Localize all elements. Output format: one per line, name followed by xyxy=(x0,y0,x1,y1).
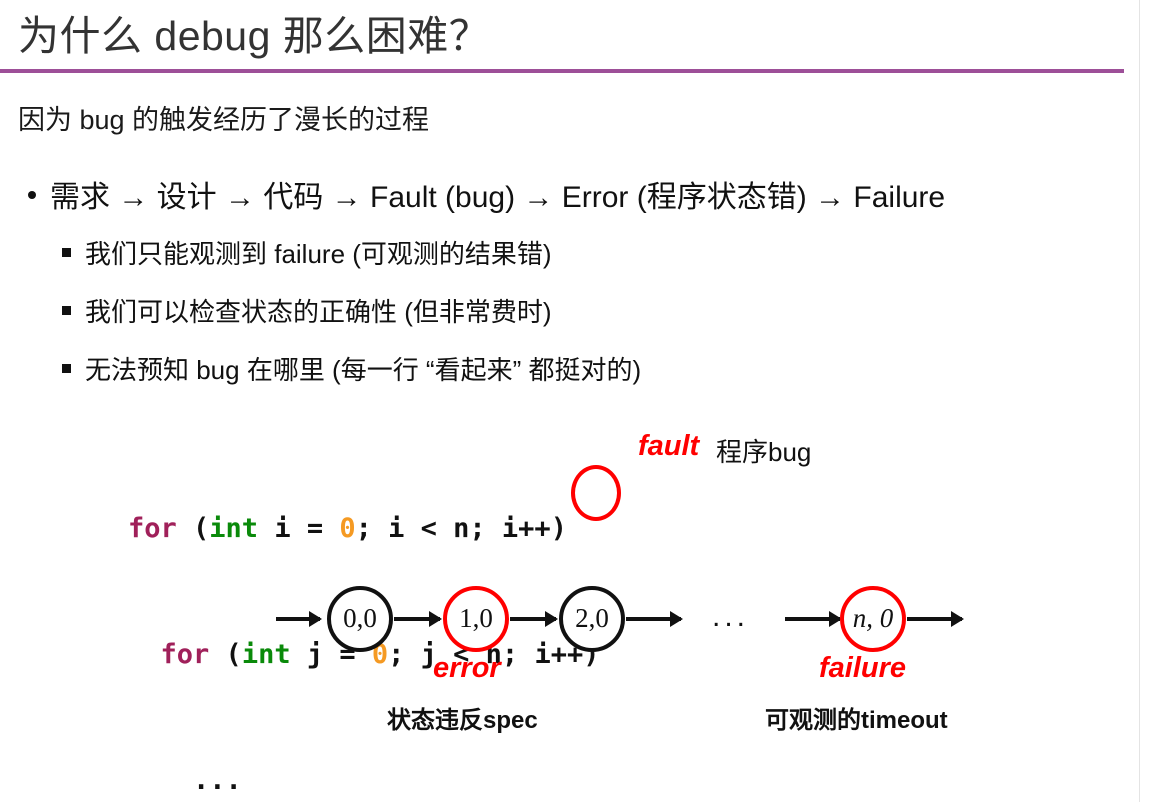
bullet-dot-icon xyxy=(28,191,36,199)
state-node-2: 2,0 xyxy=(559,586,625,652)
arrow-out-of-node-n xyxy=(907,617,962,621)
state-node-0-label: 0,0 xyxy=(343,605,377,632)
title-divider xyxy=(0,69,1124,73)
code-keyword-for: for xyxy=(128,513,177,544)
code-type-int: int xyxy=(209,513,258,544)
failure-label: failure xyxy=(819,652,906,685)
bullet-level2-3-label: 无法预知 bug 在哪里 (每一行 “看起来” 都挺对的) xyxy=(85,350,641,387)
page-title: 为什么 debug 那么困难？ xyxy=(18,2,490,62)
code-line-3: ... xyxy=(128,760,599,802)
bullet-level2-3: 无法预知 bug 在哪里 (每一行 “看起来” 都挺对的) xyxy=(62,350,641,387)
square-bullet-icon xyxy=(62,306,71,315)
fault-annotation-label: fault xyxy=(638,430,699,463)
code-line-1: for (int i = 0; i < n; i++) xyxy=(128,508,599,550)
state-diagram: 0,0 1,0 2,0 ... n, 0 error 状态违反spec fail… xyxy=(0,560,1139,760)
diagram-ellipsis: ... xyxy=(712,600,749,634)
error-label: error xyxy=(433,652,501,685)
state-node-0: 0,0 xyxy=(327,586,393,652)
bullet-level2-1-label: 我们只能观测到 failure (可观测的结果错) xyxy=(85,234,552,271)
bullet-level2-1: 我们只能观测到 failure (可观测的结果错) xyxy=(62,234,552,271)
square-bullet-icon xyxy=(62,248,71,257)
state-node-n-label: n, 0 xyxy=(853,605,894,632)
arrow-out-of-node-2 xyxy=(626,617,681,621)
code-number-zero: 0 xyxy=(339,513,355,544)
arrow-1-to-2 xyxy=(510,617,556,621)
fault-annotation-note: 程序bug xyxy=(716,432,811,469)
slide-canvas: 为什么 debug 那么困难？ 因为 bug 的触发经历了漫长的过程 需求 → … xyxy=(0,0,1140,802)
bullet-level1-label: 需求 → 设计 → 代码 → Fault (bug) → Error (程序状态… xyxy=(50,172,945,216)
error-caption: 状态违反spec xyxy=(387,700,538,735)
state-node-1-label: 1,0 xyxy=(459,605,493,632)
arrow-into-node-0 xyxy=(276,617,320,621)
lead-paragraph: 因为 bug 的触发经历了漫长的过程 xyxy=(18,98,429,137)
state-node-1: 1,0 xyxy=(443,586,509,652)
bullet-level2-2-label: 我们可以检查状态的正确性 (但非常费时) xyxy=(85,292,552,329)
arrow-into-node-n xyxy=(785,617,840,621)
state-node-2-label: 2,0 xyxy=(575,605,609,632)
bullet-level1: 需求 → 设计 → 代码 → Fault (bug) → Error (程序状态… xyxy=(28,172,945,216)
state-node-n: n, 0 xyxy=(840,586,906,652)
arrow-0-to-1 xyxy=(394,617,440,621)
red-circle-highlight-icon xyxy=(571,465,621,521)
code-plain: ; i < n; i++) xyxy=(356,513,567,544)
square-bullet-icon xyxy=(62,364,71,373)
failure-caption: 可观测的timeout xyxy=(765,700,948,735)
code-plain: ( xyxy=(177,513,210,544)
code-plain: i = xyxy=(258,513,339,544)
bullet-level2-2: 我们可以检查状态的正确性 (但非常费时) xyxy=(62,292,552,329)
